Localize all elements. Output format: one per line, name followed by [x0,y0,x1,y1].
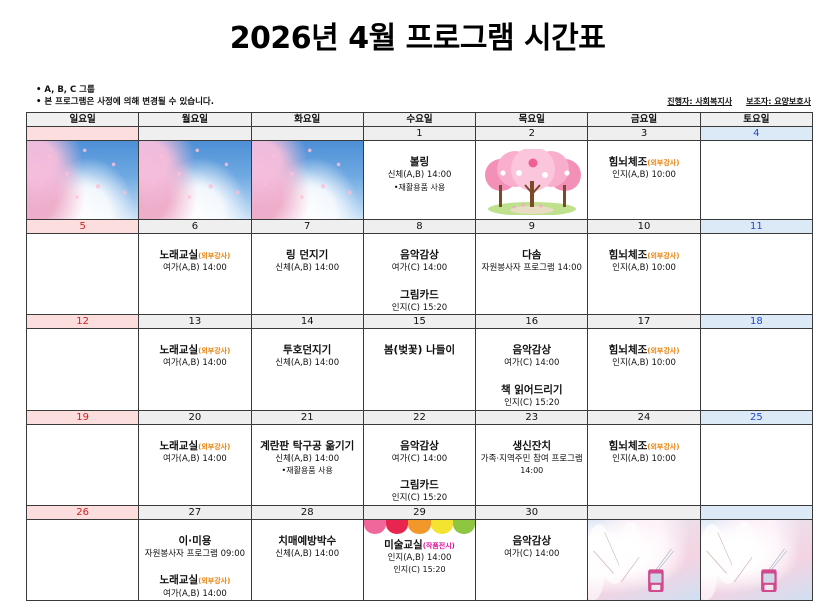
day-cell[interactable] [700,424,812,505]
event-name-text: 치매예방박수 [278,535,336,547]
event-name-text: 노래교실 [160,574,199,586]
day-cell[interactable]: 링 던지기신체(A,B) 14:00 [251,234,363,315]
day-number-row: 19202122232425 [27,410,813,424]
day-cell[interactable] [700,141,812,220]
event-name-text: 노래교실 [160,344,199,356]
event-name-text: 음악감상 [400,440,439,452]
schedule-page: 2026년 4월 프로그램 시간표 • A, B, C 그룹 • 본 프로그램은… [0,22,835,612]
event-list: 치매예방박수신체(A,B) 14:00 [252,520,363,561]
event-item[interactable]: 노래교실(외부강사)여가(A,B) 14:00 [160,248,231,275]
day-number[interactable]: 8 [363,220,475,234]
event-name: 그림카드 [392,478,447,492]
day-number[interactable]: 17 [588,315,700,329]
event-name-text: 음악감상 [512,535,551,547]
event-name: 이·미용 [145,534,245,548]
event-name: 봄(벚꽃) 나들이 [384,343,455,357]
event-list: 음악감상여가(C) 14:00그림카드인지(C) 15:20 [364,234,475,314]
event-list: 노래교실(외부강사)여가(A,B) 14:00 [139,234,250,275]
event-detail: 여가(C) 14:00 [392,263,447,274]
event-name: 미술교실(작품전시) [384,538,455,552]
day-number-row: 1234 [27,127,813,141]
staff-leader: 진행자: 사회복지사 [667,96,732,107]
event-detail: 인지(A,B) 10:00 [609,454,680,465]
day-cell[interactable]: 힘뇌체조(외부강사)인지(A,B) 10:00 [588,234,700,315]
weekday-header-4: 목요일 [476,113,588,127]
cherry-blossom-sky-photo [139,141,250,219]
weekday-header-6: 토요일 [700,113,812,127]
day-number[interactable]: 1 [363,127,475,141]
event-item[interactable]: 그림카드인지(C) 15:20 [392,478,447,505]
event-name: 음악감상 [504,343,559,357]
day-number[interactable]: 12 [27,315,139,329]
event-item[interactable]: 책 읽어드리기인지(C) 15:20 [501,383,563,410]
event-detail: 여가(C) 14:00 [504,358,559,369]
event-name: 생신잔치 [481,439,583,453]
event-detail: 신체(A,B) 14:00 [260,454,354,465]
day-number[interactable]: 14 [251,315,363,329]
event-list: 음악감상여가(C) 14:00 [476,520,587,561]
day-cell[interactable] [700,329,812,410]
day-number[interactable]: 25 [700,410,812,424]
event-name-text: 그림카드 [400,479,439,491]
event-detail: 여가(C) 14:00 [392,454,447,465]
event-name-text: 힘뇌체조 [609,249,648,261]
event-list: 계란판 탁구공 옮기기신체(A,B) 14:00•재활용품 사용 [252,425,363,477]
event-item[interactable]: 미술교실(작품전시)인지(A,B) 14:00인지(C) 15:20 [384,538,455,576]
day-number[interactable]: 22 [363,410,475,424]
day-cell[interactable]: 봄(벚꽃) 나들이 [363,329,475,410]
event-list: 음악감상여가(C) 14:00책 읽어드리기인지(C) 15:20 [476,329,587,409]
day-cell[interactable]: 힘뇌체조(외부강사)인지(A,B) 10:00 [588,329,700,410]
day-cell[interactable]: 볼링신체(A,B) 14:00•재활용품 사용 [363,141,475,220]
event-item[interactable]: 봄(벚꽃) 나들이 [384,343,455,357]
event-item[interactable]: 계란판 탁구공 옮기기신체(A,B) 14:00•재활용품 사용 [260,439,354,477]
event-name: 노래교실(외부강사) [160,573,231,587]
event-item[interactable]: 음악감상여가(C) 14:00 [392,439,447,466]
day-cell[interactable]: 음악감상여가(C) 14:00그림카드인지(C) 15:20 [363,234,475,315]
day-cell[interactable]: 계란판 탁구공 옮기기신체(A,B) 14:00•재활용품 사용 [251,424,363,505]
event-name: 책 읽어드리기 [501,383,563,397]
event-name: 음악감상 [392,439,447,453]
event-list: 힘뇌체조(외부강사)인지(A,B) 10:00 [588,141,699,182]
event-name-text: 미술교실 [384,539,423,551]
event-list: 봄(벚꽃) 나들이 [364,329,475,357]
event-detail: 인지(A,B) 10:00 [609,170,680,181]
event-list: 힘뇌체조(외부강사)인지(A,B) 10:00 [588,234,699,275]
day-cell[interactable]: 투호던지기신체(A,B) 14:00 [251,329,363,410]
day-number[interactable]: 29 [363,505,475,519]
day-number[interactable]: 13 [139,315,251,329]
event-list: 음악감상여가(C) 14:00그림카드인지(C) 15:20 [364,425,475,505]
day-number[interactable]: 2 [476,127,588,141]
weekday-header-2: 화요일 [251,113,363,127]
day-cell[interactable]: 노래교실(외부강사)여가(A,B) 14:00 [139,424,251,505]
day-number[interactable]: 30 [476,505,588,519]
day-cell[interactable] [700,519,812,600]
event-list: 생신잔치가족·지역주민 참여 프로그램14:00 [476,425,587,477]
day-cell[interactable] [476,141,588,220]
day-number[interactable]: 24 [588,410,700,424]
cherry-blossom-train-photo [588,520,699,600]
day-cell[interactable] [27,141,139,220]
day-cell[interactable]: 다솜자원봉사자 프로그램 14:00 [476,234,588,315]
day-cell[interactable]: 노래교실(외부강사)여가(A,B) 14:00 [139,234,251,315]
event-name-text: 책 읽어드리기 [501,384,563,396]
event-name-text: 힘뇌체조 [609,440,648,452]
event-name-text: 봄(벚꽃) 나들이 [384,344,455,356]
event-detail: 신체(A,B) 14:00 [275,263,339,274]
event-item[interactable]: 다솜자원봉사자 프로그램 14:00 [482,248,582,275]
event-item[interactable]: 이·미용자원봉사자 프로그램 09:00 [145,534,245,561]
event-name: 볼링 [388,155,452,169]
event-item[interactable]: 노래교실(외부강사)여가(A,B) 14:00 [160,439,231,466]
event-list: 노래교실(외부강사)여가(A,B) 14:00 [139,425,250,466]
event-tag: (외부강사) [198,577,230,585]
event-name-text: 음악감상 [512,344,551,356]
page-title: 2026년 4월 프로그램 시간표 [0,22,835,55]
event-item[interactable]: 치매예방박수신체(A,B) 14:00 [275,534,339,561]
event-name-text: 생신잔치 [512,440,551,452]
event-detail: 신체(A,B) 14:00 [388,170,452,181]
event-name-text: 음악감상 [400,249,439,261]
day-number[interactable]: 23 [476,410,588,424]
day-number[interactable]: 26 [27,505,139,519]
event-tag: (외부강사) [647,347,679,355]
day-content-row: 노래교실(외부강사)여가(A,B) 14:00투호던지기신체(A,B) 14:0… [27,329,813,410]
day-number[interactable]: 20 [139,410,251,424]
event-detail: 여가(A,B) 14:00 [160,454,231,465]
event-item[interactable]: 그림카드인지(C) 15:20 [392,288,447,315]
event-note: •재활용품 사용 [388,183,452,194]
day-number[interactable]: 16 [476,315,588,329]
day-cell[interactable] [27,424,139,505]
event-name: 힘뇌체조(외부강사) [609,155,680,169]
day-number[interactable]: 10 [588,220,700,234]
event-note: 14:00 [481,466,583,477]
event-list: 힘뇌체조(외부강사)인지(A,B) 10:00 [588,425,699,466]
day-number[interactable]: 19 [27,410,139,424]
event-name: 음악감상 [392,248,447,262]
day-cell[interactable]: 생신잔치가족·지역주민 참여 프로그램14:00 [476,424,588,505]
day-number[interactable] [251,127,363,141]
day-number[interactable]: 6 [139,220,251,234]
event-detail: 자원봉사자 프로그램 14:00 [482,263,582,274]
day-number[interactable]: 4 [700,127,812,141]
day-cell[interactable]: 음악감상여가(C) 14:00그림카드인지(C) 15:20 [363,424,475,505]
day-content-row: 이·미용자원봉사자 프로그램 09:00노래교실(외부강사)여가(A,B) 14… [27,519,813,600]
day-cell[interactable]: 치매예방박수신체(A,B) 14:00 [251,519,363,600]
weekday-header-row: 일요일월요일화요일수요일목요일금요일토요일 [27,113,813,127]
day-cell[interactable] [139,141,251,220]
event-name-text: 힘뇌체조 [609,156,648,168]
event-detail: 여가(C) 14:00 [504,549,559,560]
event-name-text: 다솜 [522,249,541,261]
event-name-text: 링 던지기 [286,249,328,261]
event-item[interactable]: 음악감상여가(C) 14:00 [504,534,559,561]
event-item[interactable]: 힘뇌체조(외부강사)인지(A,B) 10:00 [609,343,680,370]
event-detail: 신체(A,B) 14:00 [275,549,339,560]
event-item[interactable]: 노래교실(외부강사)여가(A,B) 14:00 [160,343,231,370]
art-display-banner [364,520,475,534]
cherry-blossom-sky-photo [27,141,138,219]
day-cell[interactable] [700,234,812,315]
cherry-blossom-sky-photo [252,141,363,219]
day-number[interactable]: 3 [588,127,700,141]
day-number[interactable]: 5 [27,220,139,234]
event-detail: 여가(A,B) 14:00 [160,589,231,600]
day-content-row: 노래교실(외부강사)여가(A,B) 14:00계란판 탁구공 옮기기신체(A,B… [27,424,813,505]
day-number[interactable]: 7 [251,220,363,234]
event-detail: 인지(C) 15:20 [501,398,563,409]
event-name-text: 이·미용 [178,535,211,547]
event-item[interactable]: 볼링신체(A,B) 14:00•재활용품 사용 [388,155,452,193]
event-item[interactable]: 투호던지기신체(A,B) 14:00 [275,343,339,370]
event-tag: (외부강사) [198,443,230,451]
event-list: 다솜자원봉사자 프로그램 14:00 [476,234,587,275]
day-number[interactable]: 27 [139,505,251,519]
day-cell[interactable]: 이·미용자원봉사자 프로그램 09:00노래교실(외부강사)여가(A,B) 14… [139,519,251,600]
event-list: 힘뇌체조(외부강사)인지(A,B) 10:00 [588,329,699,370]
weekday-header-3: 수요일 [363,113,475,127]
note-line-1: • A, B, C 그룹 [36,84,214,96]
event-item[interactable]: 음악감상여가(C) 14:00 [504,343,559,370]
day-number[interactable]: 21 [251,410,363,424]
event-note: 인지(C) 15:20 [384,565,455,576]
event-item[interactable]: 노래교실(외부강사)여가(A,B) 14:00 [160,573,231,600]
event-tag: (외부강사) [198,252,230,260]
day-number[interactable] [588,505,700,519]
event-item[interactable]: 링 던지기신체(A,B) 14:00 [275,248,339,275]
day-number-row: 12131415161718 [27,315,813,329]
note-line-2: • 본 프로그램은 사정에 의해 변경될 수 있습니다. [36,96,214,108]
day-cell[interactable]: 힘뇌체조(외부강사)인지(A,B) 10:00 [588,424,700,505]
day-cell[interactable] [27,234,139,315]
notes-block: • A, B, C 그룹 • 본 프로그램은 사정에 의해 변경될 수 있습니다… [36,84,214,109]
event-name: 노래교실(외부강사) [160,248,231,262]
day-number[interactable]: 18 [700,315,812,329]
day-cell[interactable] [27,329,139,410]
event-tag: (외부강사) [647,159,679,167]
day-cell[interactable]: 노래교실(외부강사)여가(A,B) 14:00 [139,329,251,410]
event-list: 링 던지기신체(A,B) 14:00 [252,234,363,275]
event-detail: 인지(A,B) 14:00 [384,553,455,564]
event-name-text: 노래교실 [160,249,199,261]
day-number[interactable]: 28 [251,505,363,519]
day-cell[interactable]: 음악감상여가(C) 14:00책 읽어드리기인지(C) 15:20 [476,329,588,410]
event-detail: 가족·지역주민 참여 프로그램 [481,454,583,465]
event-detail: 자원봉사자 프로그램 09:00 [145,549,245,560]
event-tag: (외부강사) [198,347,230,355]
event-item[interactable]: 음악감상여가(C) 14:00 [392,248,447,275]
event-name-text: 노래교실 [160,440,199,452]
day-content-row: 볼링신체(A,B) 14:00•재활용품 사용 힘뇌체조(외부강사)인지(A,B… [27,141,813,220]
day-number[interactable]: 9 [476,220,588,234]
day-number-row: 567891011 [27,220,813,234]
day-content-row: 노래교실(외부강사)여가(A,B) 14:00링 던지기신체(A,B) 14:0… [27,234,813,315]
day-cell[interactable]: 미술교실(작품전시)인지(A,B) 14:00인지(C) 15:20 [363,519,475,600]
event-item[interactable]: 힘뇌체조(외부강사)인지(A,B) 10:00 [609,155,680,182]
event-name: 노래교실(외부강사) [160,343,231,357]
day-cell[interactable]: 힘뇌체조(외부강사)인지(A,B) 10:00 [588,141,700,220]
weekday-header-1: 월요일 [139,113,251,127]
event-name: 노래교실(외부강사) [160,439,231,453]
staff-credits: 진행자: 사회복지사 보조자: 요양보호사 [667,96,811,107]
event-name: 다솜 [482,248,582,262]
weekday-header-0: 일요일 [27,113,139,127]
event-item[interactable]: 힘뇌체조(외부강사)인지(A,B) 10:00 [609,439,680,466]
weekday-header-5: 금요일 [588,113,700,127]
event-item[interactable]: 힘뇌체조(외부강사)인지(A,B) 10:00 [609,248,680,275]
calendar-table: 일요일월요일화요일수요일목요일금요일토요일 1234볼링신체(A,B) 14:0… [26,112,813,601]
event-name: 투호던지기 [275,343,339,357]
event-detail: 인지(A,B) 10:00 [609,358,680,369]
day-number[interactable] [700,505,812,519]
day-number[interactable] [139,127,251,141]
event-item[interactable]: 생신잔치가족·지역주민 참여 프로그램14:00 [481,439,583,477]
event-name-text: 계란판 탁구공 옮기기 [260,440,354,452]
day-cell[interactable] [251,141,363,220]
event-name: 힘뇌체조(외부강사) [609,439,680,453]
day-number[interactable]: 15 [363,315,475,329]
event-name: 음악감상 [504,534,559,548]
event-name: 치매예방박수 [275,534,339,548]
event-detail: 신체(A,B) 14:00 [275,358,339,369]
cherry-blossom-train-photo [701,520,812,600]
event-detail: 인지(A,B) 10:00 [609,263,680,274]
event-detail: 인지(C) 15:20 [392,493,447,504]
event-name: 힘뇌체조(외부강사) [609,343,680,357]
event-detail: 여가(A,B) 14:00 [160,263,231,274]
day-number[interactable] [27,127,139,141]
day-cell[interactable] [588,519,700,600]
event-tag: (외부강사) [647,443,679,451]
event-list: 노래교실(외부강사)여가(A,B) 14:00 [139,329,250,370]
event-list: 투호던지기신체(A,B) 14:00 [252,329,363,370]
event-name-text: 볼링 [410,156,429,168]
event-name: 그림카드 [392,288,447,302]
event-name-text: 그림카드 [400,289,439,301]
event-detail: 인지(C) 15:20 [392,303,447,314]
event-tag: (작품전시) [423,542,455,550]
day-number-row: 2627282930 [27,505,813,519]
day-cell[interactable]: 음악감상여가(C) 14:00 [476,519,588,600]
cherry-blossom-trees-illustration [476,149,587,215]
event-name: 링 던지기 [275,248,339,262]
day-cell[interactable] [27,519,139,600]
event-list: 볼링신체(A,B) 14:00•재활용품 사용 [364,141,475,193]
event-name: 계란판 탁구공 옮기기 [260,439,354,453]
day-number[interactable]: 11 [700,220,812,234]
event-note: •재활용품 사용 [260,466,354,477]
event-name: 힘뇌체조(외부강사) [609,248,680,262]
event-name-text: 투호던지기 [283,344,331,356]
event-tag: (외부강사) [647,252,679,260]
staff-assistant: 보조자: 요양보호사 [746,96,811,107]
event-list: 이·미용자원봉사자 프로그램 09:00노래교실(외부강사)여가(A,B) 14… [139,520,250,600]
event-detail: 여가(A,B) 14:00 [160,358,231,369]
event-name-text: 힘뇌체조 [609,344,648,356]
